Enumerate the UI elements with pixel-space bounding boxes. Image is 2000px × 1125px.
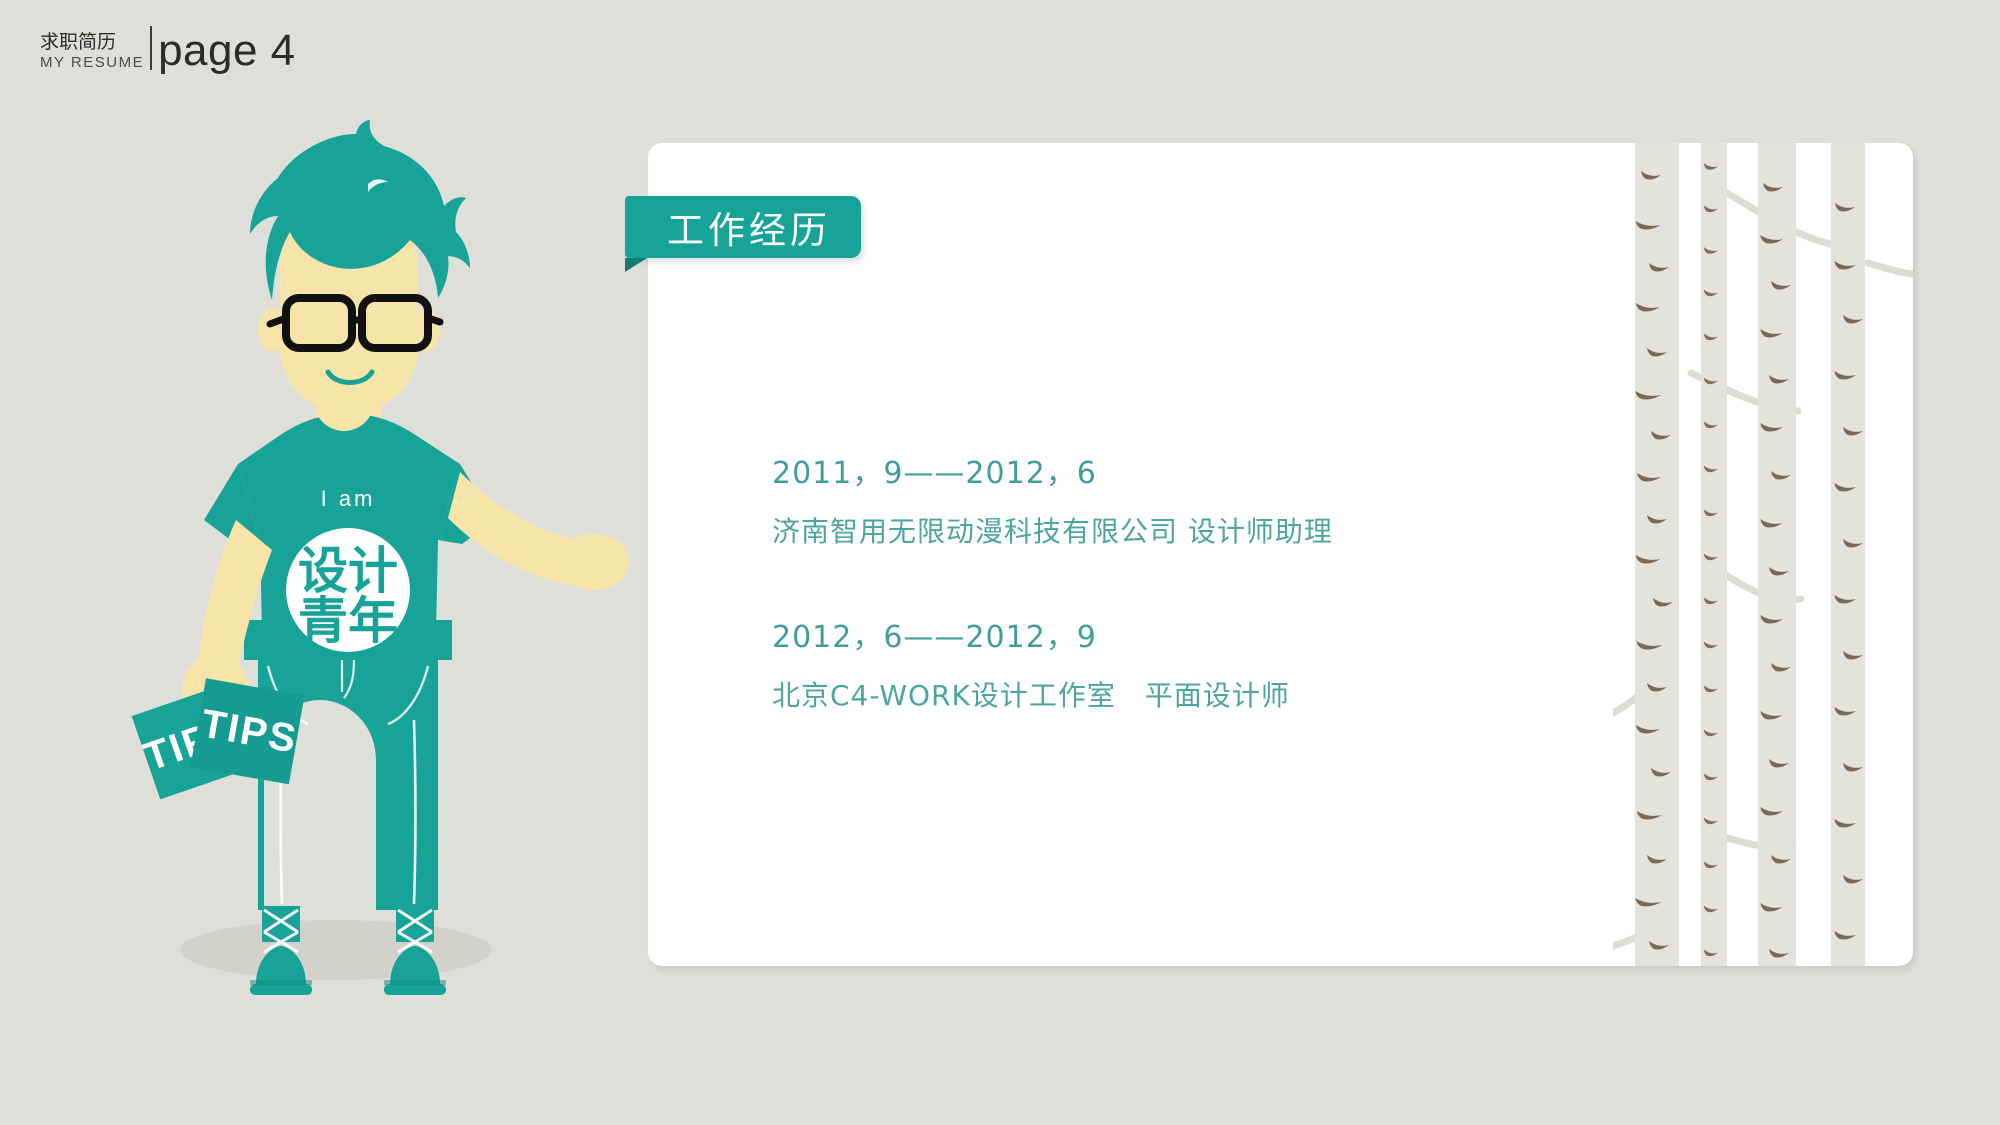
header-title-cn: 求职简历 [40,33,144,52]
birch-trunk-1 [1635,143,1679,966]
experience-detail: 济南智用无限动漫科技有限公司 设计师助理 [772,510,1592,550]
character-shadow [180,920,492,980]
section-tab-label: 工作经历 [667,200,831,254]
experience-entry: 2011，9——2012，6 济南智用无限动漫科技有限公司 设计师助理 [772,448,1592,550]
birch-trunk-3 [1758,143,1796,966]
designer-character-illustration: I am 设计 青年 TIPS TIPS [40,120,680,1020]
character-head [250,120,470,412]
header-title-block: 求职简历 MY RESUME [40,33,144,72]
character-right-arm [448,472,629,590]
tips-cards: TIPS TIPS [131,678,305,799]
experience-period: 2011，9——2012，6 [772,448,1592,492]
section-tab[interactable]: 工作经历 [625,196,861,258]
tshirt-tagline: I am [321,486,376,511]
section-tab-container[interactable]: 工作经历 [625,196,861,258]
experience-detail: 北京C4-WORK设计工作室 平面设计师 [772,674,1592,714]
tshirt-print-line2: 青年 [298,592,398,650]
page-number-label: page 4 [158,30,296,72]
experience-list: 2011，9——2012，6 济南智用无限动漫科技有限公司 设计师助理 2012… [772,448,1592,714]
birch-forest-illustration [1613,143,1913,966]
slide-canvas: 求职简历 MY RESUME page 4 [0,0,2000,1125]
experience-entry: 2012，6——2012，9 北京C4-WORK设计工作室 平面设计师 [772,612,1592,714]
header-title-en: MY RESUME [40,55,144,70]
page-header: 求职简历 MY RESUME page 4 [40,16,296,72]
header-divider [150,26,152,70]
experience-period: 2012，6——2012，9 [772,612,1592,656]
